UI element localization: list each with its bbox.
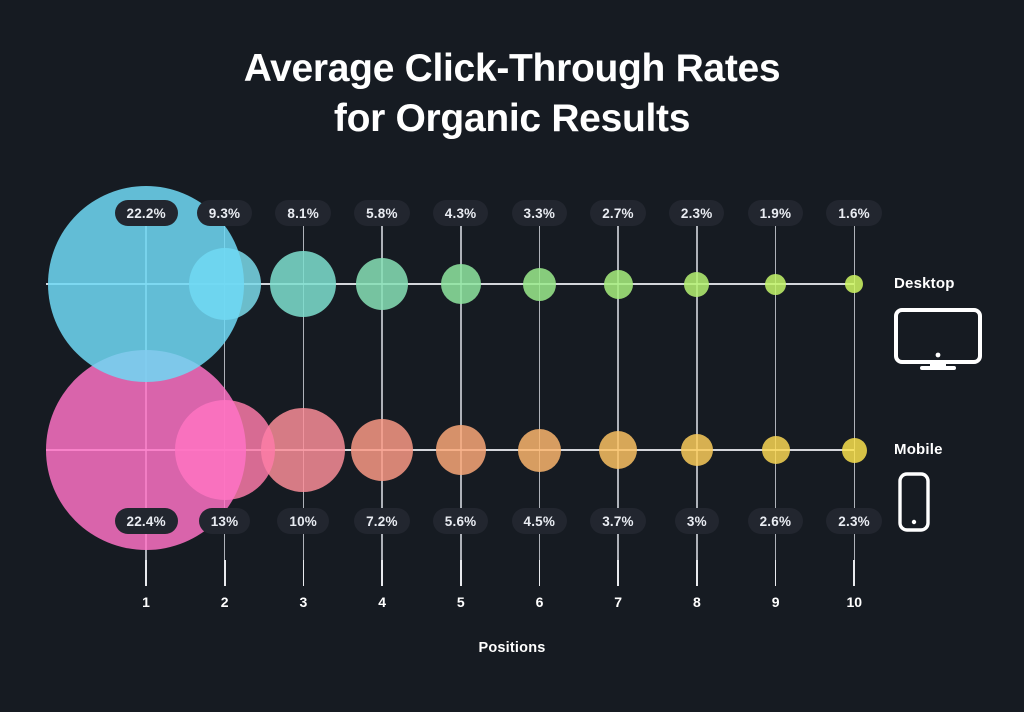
value-pill-mobile-9[interactable]: 2.6% xyxy=(748,508,804,534)
bubble-mobile-10[interactable] xyxy=(842,438,867,463)
value-pill-mobile-3[interactable]: 10% xyxy=(277,508,329,534)
axis-tick-9 xyxy=(775,560,777,586)
monitor-icon xyxy=(894,308,982,375)
value-pill-mobile-4[interactable]: 7.2% xyxy=(354,508,410,534)
axis-tick-label-1: 1 xyxy=(126,594,166,610)
value-pill-desktop-8[interactable]: 2.3% xyxy=(669,200,725,226)
axis-tick-label-6: 6 xyxy=(520,594,560,610)
value-pill-desktop-9[interactable]: 1.9% xyxy=(748,200,804,226)
bubble-mobile-6[interactable] xyxy=(518,429,561,472)
bubble-desktop-7[interactable] xyxy=(604,270,633,299)
axis-tick-5 xyxy=(460,560,462,586)
value-pill-desktop-2[interactable]: 9.3% xyxy=(197,200,253,226)
value-pill-mobile-6[interactable]: 4.5% xyxy=(512,508,568,534)
value-pill-mobile-1[interactable]: 22.4% xyxy=(115,508,178,534)
value-pill-desktop-5[interactable]: 4.3% xyxy=(433,200,489,226)
axis-tick-label-3: 3 xyxy=(283,594,323,610)
axis-tick-1 xyxy=(145,560,147,586)
value-pill-desktop-3[interactable]: 8.1% xyxy=(275,200,331,226)
axis-tick-3 xyxy=(303,560,305,586)
axis-tick-8 xyxy=(696,560,698,586)
value-pill-desktop-10[interactable]: 1.6% xyxy=(826,200,882,226)
value-pill-mobile-5[interactable]: 5.6% xyxy=(433,508,489,534)
axis-tick-10 xyxy=(853,560,855,586)
infographic-canvas: Average Click-Through Rates for Organic … xyxy=(0,0,1024,712)
axis-tick-label-10: 10 xyxy=(834,594,874,610)
bubble-mobile-5[interactable] xyxy=(436,425,486,475)
bubble-mobile-7[interactable] xyxy=(599,431,637,469)
legend-label-desktop: Desktop xyxy=(894,275,955,292)
value-pill-desktop-4[interactable]: 5.8% xyxy=(354,200,410,226)
bubble-mobile-8[interactable] xyxy=(681,434,713,466)
axis-tick-label-9: 9 xyxy=(756,594,796,610)
bubble-mobile-9[interactable] xyxy=(762,436,790,464)
bubble-desktop-4[interactable] xyxy=(356,258,408,310)
axis-tick-label-7: 7 xyxy=(598,594,638,610)
value-pill-mobile-2[interactable]: 13% xyxy=(199,508,251,534)
bubble-chart: 1234567891022.2%9.3%8.1%5.8%4.3%3.3%2.7%… xyxy=(0,0,1024,712)
value-pill-mobile-8[interactable]: 3% xyxy=(675,508,719,534)
axis-tick-6 xyxy=(539,560,541,586)
axis-tick-label-2: 2 xyxy=(205,594,245,610)
bubble-desktop-5[interactable] xyxy=(441,264,481,304)
bubble-desktop-10[interactable] xyxy=(845,275,863,293)
value-pill-desktop-7[interactable]: 2.7% xyxy=(590,200,646,226)
axis-tick-label-5: 5 xyxy=(441,594,481,610)
axis-tick-4 xyxy=(381,560,383,586)
bubble-desktop-6[interactable] xyxy=(523,268,556,301)
value-pill-desktop-6[interactable]: 3.3% xyxy=(512,200,568,226)
bubble-mobile-4[interactable] xyxy=(351,419,413,481)
axis-tick-label-8: 8 xyxy=(677,594,717,610)
axis-tick-2 xyxy=(224,560,226,586)
smartphone-icon xyxy=(894,472,934,539)
value-pill-mobile-7[interactable]: 3.7% xyxy=(590,508,646,534)
bubble-desktop-9[interactable] xyxy=(765,274,786,295)
legend-label-mobile: Mobile xyxy=(894,441,943,458)
x-axis-label: Positions xyxy=(0,640,1024,656)
axis-tick-7 xyxy=(617,560,619,586)
bubble-desktop-8[interactable] xyxy=(684,272,709,297)
axis-tick-label-4: 4 xyxy=(362,594,402,610)
bubble-desktop-3[interactable] xyxy=(270,251,336,317)
value-pill-mobile-10[interactable]: 2.3% xyxy=(826,508,882,534)
value-pill-desktop-1[interactable]: 22.2% xyxy=(115,200,178,226)
